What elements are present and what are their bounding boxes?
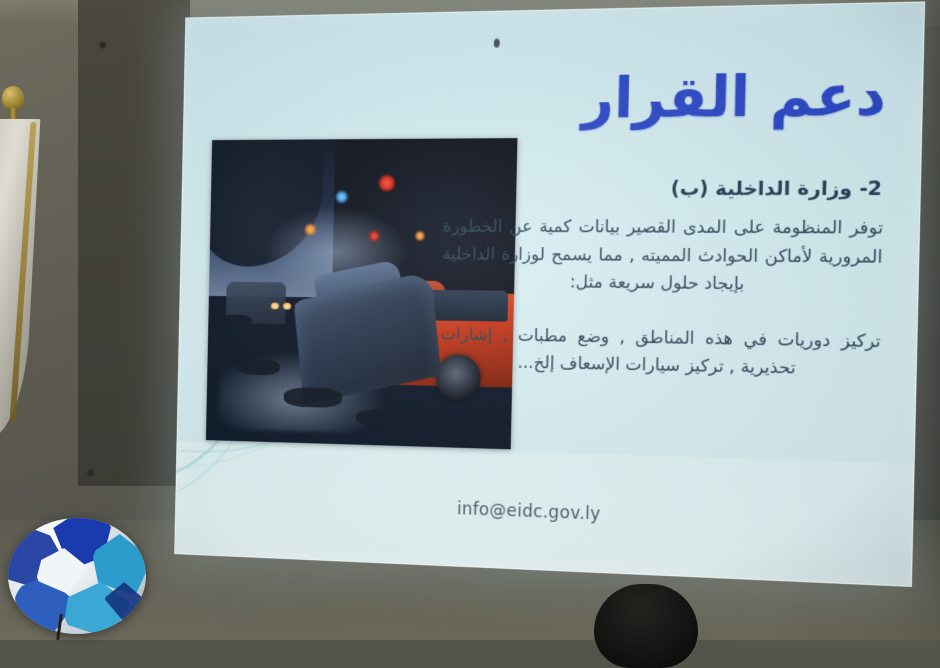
projection-screen: دعم القرار 2- وزارة الداخلية (ب) توفر ال… xyxy=(174,1,925,587)
slide: دعم القرار 2- وزارة الداخلية (ب) توفر ال… xyxy=(174,1,925,587)
photo-debris-1 xyxy=(237,359,280,375)
slide-subheading: 2- وزارة الداخلية (ب) xyxy=(451,177,882,201)
photo-traffic-light-red2-icon xyxy=(369,231,379,241)
slide-paragraph-1: توفر المنظومة على المدى القصير بيانات كم… xyxy=(441,214,883,301)
slide-body: توفر المنظومة على المدى القصير بيانات كم… xyxy=(439,214,883,406)
slide-title: دعم القرار xyxy=(582,67,887,127)
decor-lamp-body xyxy=(8,518,146,634)
photo-street-light-amber2-icon xyxy=(415,231,424,240)
decor-lamp xyxy=(2,508,152,638)
slide-paragraph-2: تركيز دوريات في هذه المناطق , وضع مطبات … xyxy=(440,321,881,385)
photo-debris-2 xyxy=(284,387,343,408)
photo-debris-4 xyxy=(220,315,252,327)
audience-head xyxy=(594,584,698,668)
